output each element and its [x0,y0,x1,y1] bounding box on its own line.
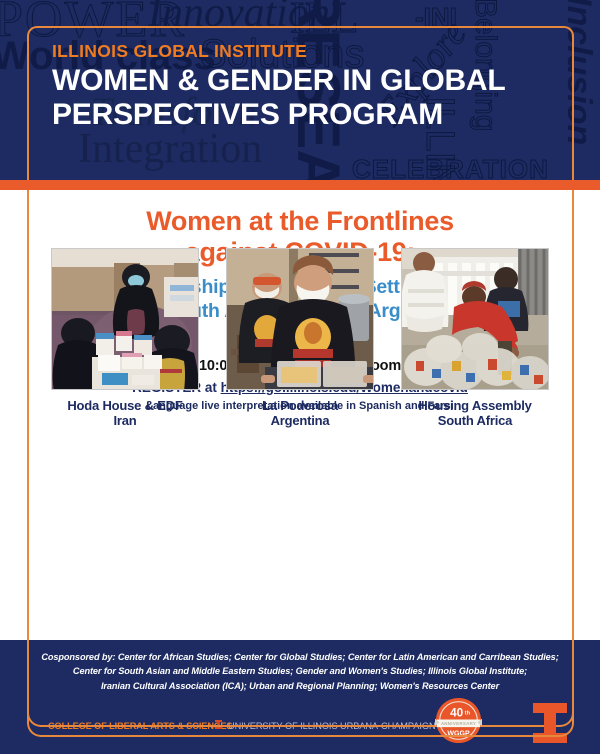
caption-iran: Hoda House & EDF Iran [51,398,199,428]
photo-iran-illustration [52,249,199,390]
caption-south-africa-line1: Housing Assembly [418,398,531,413]
event-poster: POWER Innovation ILL -INI RESEARCH Belon… [0,0,600,754]
poster-footer-panel: Cosponsored by: Center for African Studi… [0,640,600,754]
illinois-block-i-logo [533,703,567,743]
photo-cell-south-africa: Housing Assembly South Africa [401,248,549,428]
caption-iran-line2: Iran [113,413,136,428]
caption-argentina: La Poderosa Argentina [226,398,374,428]
caption-argentina-line1: La Poderosa [262,398,338,413]
header-titles: ILLINOIS GLOBAL INSTITUTE WOMEN & GENDER… [52,42,506,131]
photo-housing-assembly [401,248,549,390]
block-i-divider-icon [215,720,222,729]
photo-cell-iran: Hoda House & EDF Iran [51,248,199,428]
photo-cell-argentina: La Poderosa Argentina [226,248,374,428]
university-name: UNIVERSITY OF ILLINOIS URBANA-CHAMPAIGN [228,721,436,731]
caption-south-africa: Housing Assembly South Africa [401,398,549,428]
footer-brand-row: COLLEGE OF LIBERAL ARTS & SCIENCES UNIVE… [0,700,600,754]
photo-row: Hoda House & EDF Iran [0,248,600,428]
photo-south-africa-illustration [402,249,549,390]
badge-number: 40 [450,707,464,720]
caption-south-africa-line2: South Africa [438,413,512,428]
college-name: COLLEGE OF LIBERAL ARTS & SCIENCES [48,721,232,731]
photo-argentina-illustration [227,249,374,390]
cosponsor-line3: Iranian Cultural Association (ICA); Urba… [30,679,570,693]
header-divider-bar [0,180,600,190]
badge-ordinal: th [465,710,471,716]
caption-argentina-line2: Argentina [271,413,330,428]
caption-iran-line1: Hoda House & EDF [67,398,182,413]
cosponsor-line1: Cosponsored by: Center for African Studi… [30,650,570,664]
photo-la-poderosa [226,248,374,390]
anniversary-badge: 40 th ANNIVERSARY WGGP [435,697,482,744]
program-title-line1: WOMEN & GENDER IN GLOBAL [52,64,506,98]
badge-banner: ANNIVERSARY [441,721,476,726]
cosponsor-list: Cosponsored by: Center for African Studi… [30,650,570,693]
photo-hoda-house-edf [51,248,199,390]
badge-program: WGGP [447,731,470,738]
cosponsor-line2: Center for South Asian and Middle Easter… [30,664,570,678]
program-title-line2: PERSPECTIVES PROGRAM [52,98,506,132]
event-title-line1: Women at the Frontlines [40,206,560,237]
institute-kicker: ILLINOIS GLOBAL INSTITUTE [52,42,506,61]
poster-header: POWER Innovation ILL -INI RESEARCH Belon… [0,0,600,180]
